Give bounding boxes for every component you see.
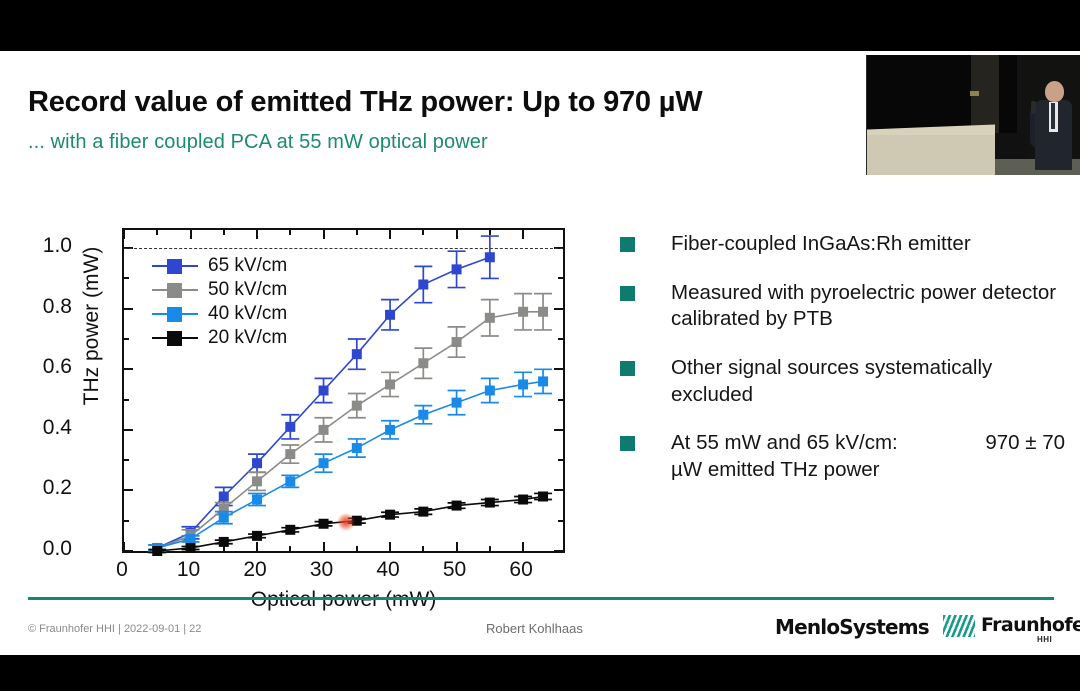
data-point-marker [452,337,462,347]
x-tick-label: 50 [430,558,480,582]
y-tick-label: 0.2 [12,476,72,500]
menlosystems-logo: MenloSystems [775,615,929,639]
legend-line-swatch [152,337,198,340]
video-door-handle [970,91,979,96]
legend-label: 20 kV/cm [208,327,287,349]
data-point-marker [319,386,329,396]
legend-item-4[interactable]: 20 kV/cm [152,326,287,350]
data-point-marker [485,313,495,323]
slide-canvas: Record value of emitted THz power: Up to… [0,51,1080,655]
x-tick-label: 0 [97,558,147,582]
legend-marker-square [167,331,182,346]
x-tick-label: 20 [230,558,280,582]
screen: Record value of emitted THz power: Up to… [0,0,1080,691]
data-point-marker [418,280,428,290]
fraunhofer-institute-tag: HHI [1037,635,1052,644]
speaker-video-overlay[interactable] [866,55,1080,175]
data-point-marker [252,495,262,505]
data-point-marker [352,349,362,359]
y-tick-label: 0.8 [12,295,72,319]
bullet-text-continuation: µW emitted THz power [671,457,1065,484]
data-point-marker [285,449,295,459]
y-tick-label: 0.4 [12,416,72,440]
data-point-marker [152,546,162,556]
data-point-marker [319,519,329,529]
mouse-cursor-highlight [337,513,355,531]
page-subtitle: ... with a fiber coupled PCA at 55 mW op… [28,131,848,154]
data-point-marker [219,537,229,547]
footer-author: Robert Kohlhaas [486,621,583,636]
data-point-marker [385,379,395,389]
bullet-item-3: Other signal sources systematically excl… [620,355,1065,408]
chart-plot-area: 65 kV/cm50 kV/cm40 kV/cm20 kV/cm [122,228,565,553]
legend-marker-square [167,259,182,274]
data-point-marker [285,422,295,432]
data-point-marker [252,476,262,486]
footer-divider [28,597,1054,600]
legend-marker-square [167,307,182,322]
legend-item-1[interactable]: 65 kV/cm [152,254,287,278]
legend-label: 40 kV/cm [208,303,287,325]
bullet-item-4: At 55 mW and 65 kV/cm:970 ± 70µW emitted… [620,430,1065,483]
letterbox-bottom [0,655,1080,691]
chart-y-axis-label: THz power (mW) [80,216,104,436]
x-tick-label: 10 [164,558,214,582]
bullet-text: Measured with pyroelectric power detecto… [671,280,1065,333]
fraunhofer-logo-text: Fraunhofer [981,614,1080,636]
data-point-marker [518,379,528,389]
data-point-marker [352,443,362,453]
x-tick-label: 60 [496,558,546,582]
data-point-marker [485,252,495,262]
video-presenter-head [1045,81,1064,102]
data-point-marker [385,510,395,520]
x-tick-label: 30 [297,558,347,582]
data-point-marker [219,491,229,501]
bullet-text: Other signal sources systematically excl… [671,355,1065,408]
data-point-marker [452,398,462,408]
bullet-text-main: At 55 mW and 65 kV/cm: [671,430,898,457]
bullet-list: Fiber-coupled InGaAs:Rh emitterMeasured … [620,231,1065,505]
fraunhofer-logo-mark [943,615,975,637]
footer-copyright: © Fraunhofer HHI | 2022-09-01 | 22 [28,623,201,635]
legend-label: 65 kV/cm [208,255,287,277]
legend-marker-square [167,283,182,298]
legend-line-swatch [152,313,198,316]
x-tick-label: 40 [363,558,413,582]
y-tick-label: 0.6 [12,355,72,379]
page-title: Record value of emitted THz power: Up to… [28,86,848,119]
data-point-marker [418,507,428,517]
footer-logos: MenloSystems Fraunhofer HHI [775,609,1065,653]
bullet-square-icon [620,436,635,451]
y-tick-label: 0.0 [12,537,72,561]
bullet-item-1: Fiber-coupled InGaAs:Rh emitter [620,231,1065,258]
bullet-value: 970 ± 70 [985,430,1065,457]
data-point-marker [485,498,495,508]
chart-x-axis-label: Optical power (mW) [122,588,565,612]
legend-item-2[interactable]: 50 kV/cm [152,278,287,302]
data-point-marker [518,495,528,505]
data-point-marker [285,476,295,486]
data-point-marker [319,425,329,435]
bullet-square-icon [620,361,635,376]
data-point-marker [252,531,262,541]
video-presenter-tie [1051,103,1055,129]
data-point-marker [452,264,462,274]
data-point-marker [538,376,548,386]
data-point-marker [352,401,362,411]
data-point-marker [219,513,229,523]
bullet-square-icon [620,286,635,301]
video-podium-front [867,135,995,175]
data-point-marker [285,525,295,535]
thz-power-chart: THz power (mW) Optical power (mW) 0.00.2… [36,196,606,626]
data-point-marker [186,534,196,544]
legend-label: 50 kV/cm [208,279,287,301]
data-point-marker [418,358,428,368]
bullet-text: Fiber-coupled InGaAs:Rh emitter [671,231,1065,258]
data-point-marker [319,458,329,468]
bullet-item-2: Measured with pyroelectric power detecto… [620,280,1065,333]
bullet-square-icon [620,237,635,252]
y-tick-label: 1.0 [12,234,72,258]
data-point-marker [538,491,548,501]
legend-line-swatch [152,265,198,268]
data-point-marker [485,386,495,396]
data-point-marker [252,458,262,468]
data-point-marker [538,307,548,317]
data-point-marker [452,501,462,511]
data-point-marker [418,410,428,420]
data-point-marker [186,543,196,553]
data-point-marker [385,425,395,435]
chart-legend: 65 kV/cm50 kV/cm40 kV/cm20 kV/cm [152,254,287,350]
data-point-marker [518,307,528,317]
legend-line-swatch [152,289,198,292]
data-point-marker [385,310,395,320]
letterbox-top [0,0,1080,51]
legend-item-3[interactable]: 40 kV/cm [152,302,287,326]
bullet-text: At 55 mW and 65 kV/cm:970 ± 70µW emitted… [671,430,1065,483]
microphone-icon [1031,101,1036,114]
